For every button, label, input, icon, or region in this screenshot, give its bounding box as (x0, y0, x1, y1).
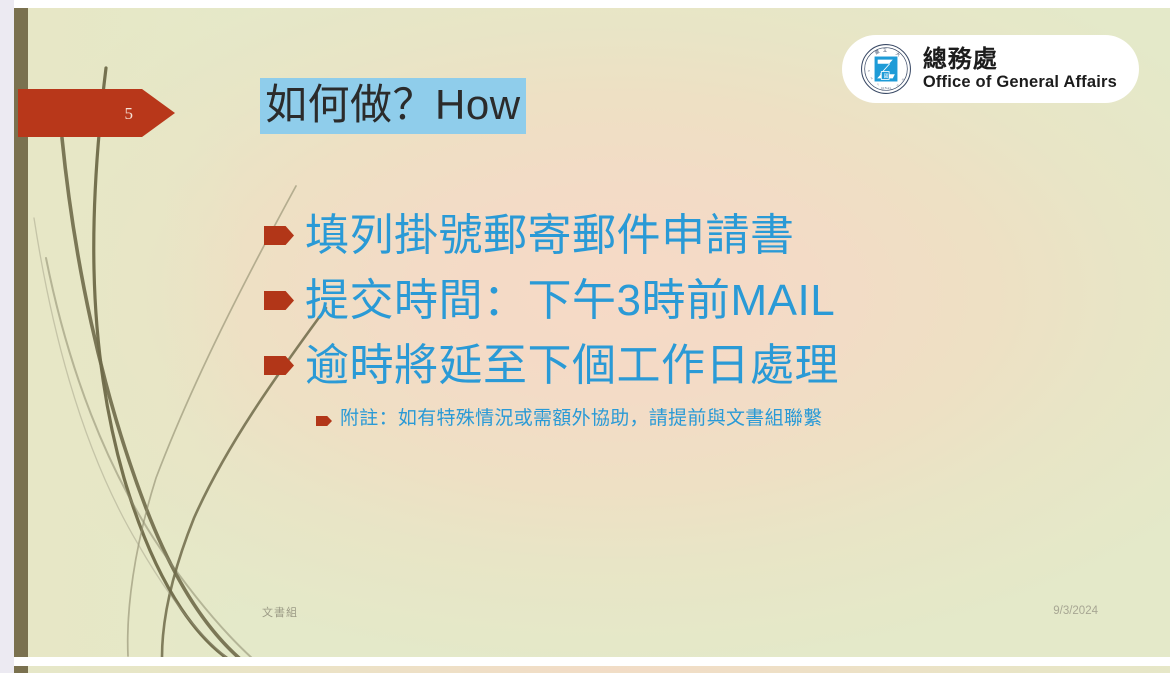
svg-text:立: 立 (883, 46, 887, 52)
bullet-item: 提交時間：下午3時前MAIL (264, 273, 1124, 328)
bullet-text: 逾時將延至下個工作日處理 (305, 338, 839, 393)
slide-title-wrap: 如何做？How (260, 78, 526, 134)
org-name-chinese: 總務處 (923, 48, 1117, 72)
university-seal-icon: 國 國 立 大 N A T I O N A L U N (860, 43, 912, 95)
arrow-bullet-icon (264, 291, 294, 310)
slide-body: 填列掛號郵寄郵件申請書 提交時間：下午3時前MAIL 逾時將延至下個工作日處理 … (264, 208, 1124, 432)
svg-text:I O N A L: I O N A L (881, 87, 892, 90)
olive-left-rail (14, 666, 28, 673)
bullet-item: 填列掛號郵寄郵件申請書 (264, 208, 1124, 263)
arrow-bullet-icon (264, 356, 294, 375)
arrow-bullet-icon (316, 416, 332, 426)
slide-canvas[interactable]: 5 如何做？How 國 國 立 大 N A T (14, 8, 1170, 657)
org-logo: 國 國 立 大 N A T I O N A L U N 總務處 Office o… (842, 35, 1139, 103)
slide-number: 5 (125, 105, 134, 122)
footer-date: 9/3/2024 (1053, 605, 1098, 617)
page-title: 如何做？How (260, 78, 526, 134)
org-name-english: Office of General Affairs (923, 74, 1117, 91)
slide-number-banner: 5 (18, 89, 175, 137)
bullet-text: 提交時間：下午3時前MAIL (305, 273, 835, 328)
arrow-bullet-icon (264, 226, 294, 245)
bullet-item: 逾時將延至下個工作日處理 (264, 338, 1124, 393)
next-slide-preview[interactable] (14, 666, 1170, 673)
bullet-text: 填列掛號郵寄郵件申請書 (305, 208, 795, 263)
slide-viewer: 5 如何做？How 國 國 立 大 N A T (0, 0, 1170, 673)
footer-left-label: 文書組 (262, 604, 298, 620)
sub-bullet-item: 附註：如有特殊情況或需額外協助，請提前與文書組聯繫 (316, 407, 1124, 432)
org-logo-text: 總務處 Office of General Affairs (923, 48, 1117, 91)
svg-text:國: 國 (883, 73, 888, 79)
sub-bullet-text: 附註：如有特殊情況或需額外協助，請提前與文書組聯繫 (340, 407, 823, 432)
